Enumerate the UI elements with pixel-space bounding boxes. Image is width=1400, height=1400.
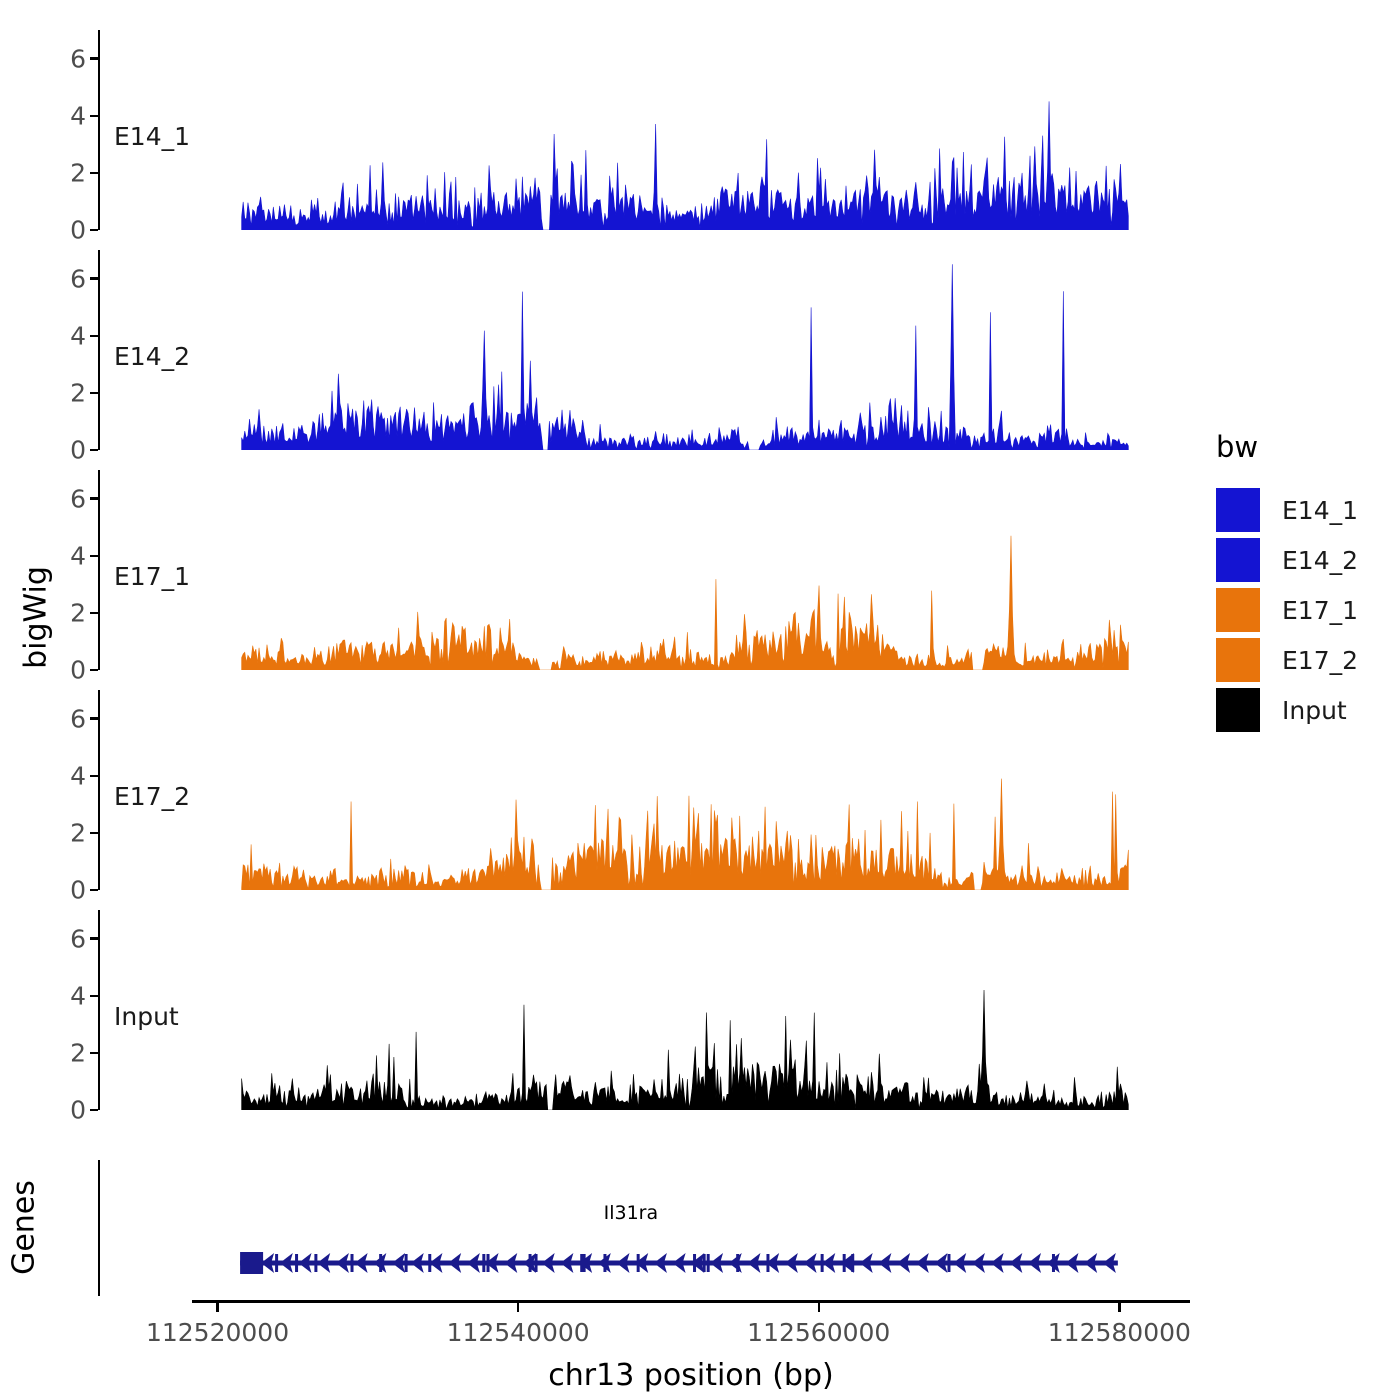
y-tick-label: 6: [70, 44, 86, 73]
track-panel-e17_2: 0246E17_2: [98, 690, 1200, 890]
y-tick: [90, 775, 98, 777]
x-tick: [216, 1303, 218, 1312]
y-tick: [90, 392, 98, 394]
track-panel-input: 0246Input: [98, 910, 1200, 1110]
legend-color-swatch: [1216, 588, 1260, 632]
legend-color-swatch: [1216, 538, 1260, 582]
y-tick: [90, 832, 98, 834]
y-tick: [90, 449, 98, 451]
legend-item-e14_2[interactable]: E14_2: [1216, 538, 1358, 582]
y-tick: [90, 277, 98, 279]
x-tick: [1118, 1303, 1120, 1312]
y-tick-label: 2: [70, 598, 86, 627]
legend-item-label: Input: [1282, 696, 1347, 725]
y-tick-label: 4: [70, 101, 86, 130]
y-tick: [90, 612, 98, 614]
y-tick-label: 6: [70, 924, 86, 953]
y-tick-label: 4: [70, 761, 86, 790]
legend-item-e17_2[interactable]: E17_2: [1216, 638, 1358, 682]
y-tick: [90, 335, 98, 337]
y-tick-label: 6: [70, 484, 86, 513]
signal-track-e14_2: [98, 250, 1200, 450]
gene-name-label: Il31ra: [604, 1202, 659, 1224]
y-tick: [90, 57, 98, 59]
signal-track-e17_1: [98, 470, 1200, 670]
signal-track-e17_2: [98, 690, 1200, 890]
x-tick-label: 112540000: [447, 1318, 590, 1347]
legend-item-label: E17_2: [1282, 646, 1358, 675]
y-axis-title: bigWig: [19, 558, 54, 678]
signal-track-input: [98, 910, 1200, 1110]
y-tick-label: 6: [70, 704, 86, 733]
x-tick-label: 112520000: [146, 1318, 289, 1347]
legend-item-label: E14_2: [1282, 546, 1358, 575]
y-tick-label: 2: [70, 158, 86, 187]
legend-title: bw: [1216, 430, 1258, 464]
legend-item-e17_1[interactable]: E17_1: [1216, 588, 1358, 632]
y-tick-label: 6: [70, 264, 86, 293]
legend-item-label: E17_1: [1282, 596, 1358, 625]
y-tick: [90, 995, 98, 997]
signal-track-e14_1: [98, 30, 1200, 230]
y-tick: [90, 937, 98, 939]
legend-color-swatch: [1216, 488, 1260, 532]
x-tick-label: 112580000: [1048, 1318, 1191, 1347]
y-tick-label: 0: [70, 1096, 86, 1125]
y-tick: [90, 889, 98, 891]
y-tick: [90, 115, 98, 117]
track-panel-e14_2: 0246E14_2: [98, 250, 1200, 450]
y-tick-label: 2: [70, 818, 86, 847]
y-tick: [90, 669, 98, 671]
legend: bw E14_1E14_2E17_1E17_2Input: [1216, 430, 1396, 710]
y-tick: [90, 717, 98, 719]
legend-color-swatch: [1216, 688, 1260, 732]
y-tick: [90, 229, 98, 231]
y-tick: [90, 497, 98, 499]
y-tick-label: 0: [70, 656, 86, 685]
track-panel-e17_1: 0246E17_1: [98, 470, 1200, 670]
track-panel-e14_1: 0246E14_1: [98, 30, 1200, 230]
x-tick: [818, 1303, 820, 1312]
y-tick: [90, 1052, 98, 1054]
y-tick: [90, 172, 98, 174]
legend-item-e14_1[interactable]: E14_1: [1216, 488, 1358, 532]
y-tick-label: 0: [70, 436, 86, 465]
y-tick-label: 4: [70, 981, 86, 1010]
y-tick-label: 0: [70, 876, 86, 905]
y-tick: [90, 1109, 98, 1111]
y-tick-label: 2: [70, 1038, 86, 1067]
legend-item-label: E14_1: [1282, 496, 1358, 525]
x-axis-line: [192, 1300, 1190, 1303]
y-tick: [90, 555, 98, 557]
y-tick-label: 0: [70, 216, 86, 245]
legend-item-input[interactable]: Input: [1216, 688, 1347, 732]
y-tick-label: 4: [70, 321, 86, 350]
x-tick-label: 112560000: [747, 1318, 890, 1347]
y-tick-label: 4: [70, 541, 86, 570]
x-axis-title: chr13 position (bp): [548, 1358, 833, 1393]
legend-color-swatch: [1216, 638, 1260, 682]
x-tick: [517, 1303, 519, 1312]
gene-model-il31ra[interactable]: [0, 1233, 1400, 1293]
y-tick-label: 2: [70, 378, 86, 407]
